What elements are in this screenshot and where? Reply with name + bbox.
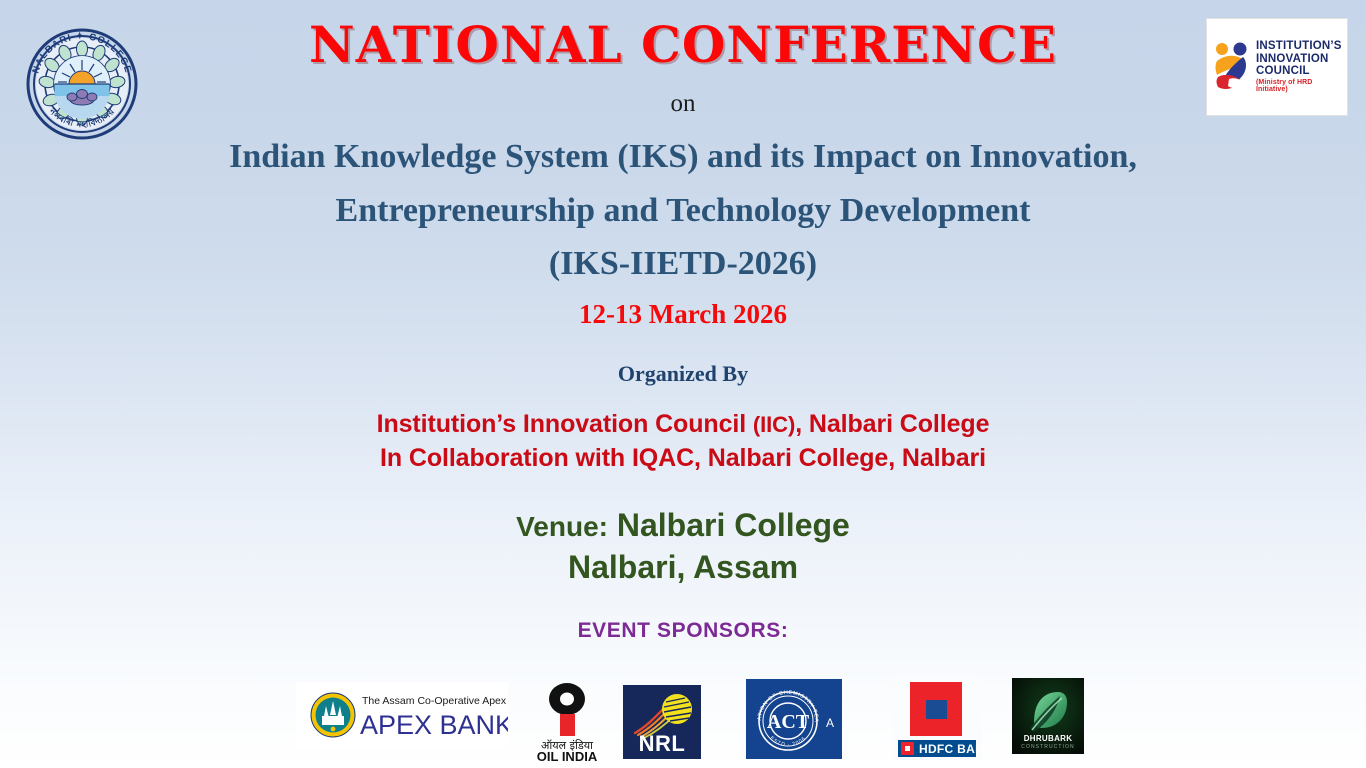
svg-text:A: A — [826, 716, 834, 730]
conference-subtitle: Indian Knowledge System (IKS) and its Im… — [100, 130, 1266, 291]
svg-text:NRL: NRL — [639, 731, 686, 756]
subtitle-line-1: Indian Knowledge System (IKS) and its Im… — [100, 130, 1266, 184]
page-title: National Conference — [0, 20, 1366, 70]
dhrubark-logo-icon: DHRUBARK CONSTRUCTION — [1012, 678, 1084, 754]
sponsors-heading: EVENT SPONSORS: — [0, 619, 1366, 643]
svg-text:DHRUBARK: DHRUBARK — [1024, 734, 1073, 743]
svg-text:ACT: ACT — [767, 711, 810, 733]
venue-block: Venue: Nalbari College Nalbari, Assam — [0, 505, 1366, 588]
organizer-line-1-abbrev: (IIC) — [753, 412, 795, 437]
organizer-line-1-part-a: Institution’s Innovation Council — [377, 410, 753, 438]
svg-text:The Assam Co-Operative Apex Ba: The Assam Co-Operative Apex Bank Ltd. — [362, 695, 508, 707]
conference-poster: NALBARI ✦ COLLEGE নলবাৰী মহাবিদ্যালয় IN… — [0, 0, 1366, 768]
venue-name: Nalbari College — [617, 507, 850, 543]
venue-label: Venue: — [516, 511, 608, 542]
svg-text:CONSTRUCTION: CONSTRUCTION — [1021, 744, 1074, 750]
subtitle-line-2: Entrepreneurship and Technology Developm… — [100, 184, 1266, 238]
subtitle-line-3: (IKS-IIETD-2026) — [100, 237, 1266, 291]
venue-line-1: Venue: Nalbari College — [0, 505, 1366, 547]
organizer-line-1-part-c: , Nalbari College — [795, 410, 989, 438]
apex-bank-logo-icon: The Assam Co-Operative Apex Bank Ltd. AP… — [296, 682, 508, 748]
organizer-block: Institution’s Innovation Council (IIC), … — [0, 408, 1366, 475]
act-logo-icon: ASSOCIATION OF CHEMISTRY TEACHERS ESTD ·… — [746, 679, 842, 759]
organizer-line-1: Institution’s Innovation Council (IIC), … — [0, 408, 1366, 442]
venue-location: Nalbari, Assam — [0, 547, 1366, 589]
svg-text:HDFC BANK: HDFC BANK — [919, 742, 982, 756]
svg-text:OIL INDIA: OIL INDIA — [537, 749, 598, 762]
nrl-logo-icon: NRL — [623, 685, 701, 759]
oil-india-logo-icon: ऑयल इंडिया OIL INDIA — [536, 676, 598, 762]
sponsor-logo-strip: The Assam Co-Operative Apex Bank Ltd. AP… — [296, 676, 1096, 762]
hdfc-bank-logo-icon: HDFC BANK — [892, 676, 982, 760]
svg-text:APEX BANK: APEX BANK — [360, 710, 508, 740]
title-connector: on — [0, 90, 1366, 118]
organized-by-label: Organized By — [0, 361, 1366, 387]
organizer-line-2: In Collaboration with IQAC, Nalbari Coll… — [0, 442, 1366, 476]
conference-date: 12-13 March 2026 — [0, 299, 1366, 330]
